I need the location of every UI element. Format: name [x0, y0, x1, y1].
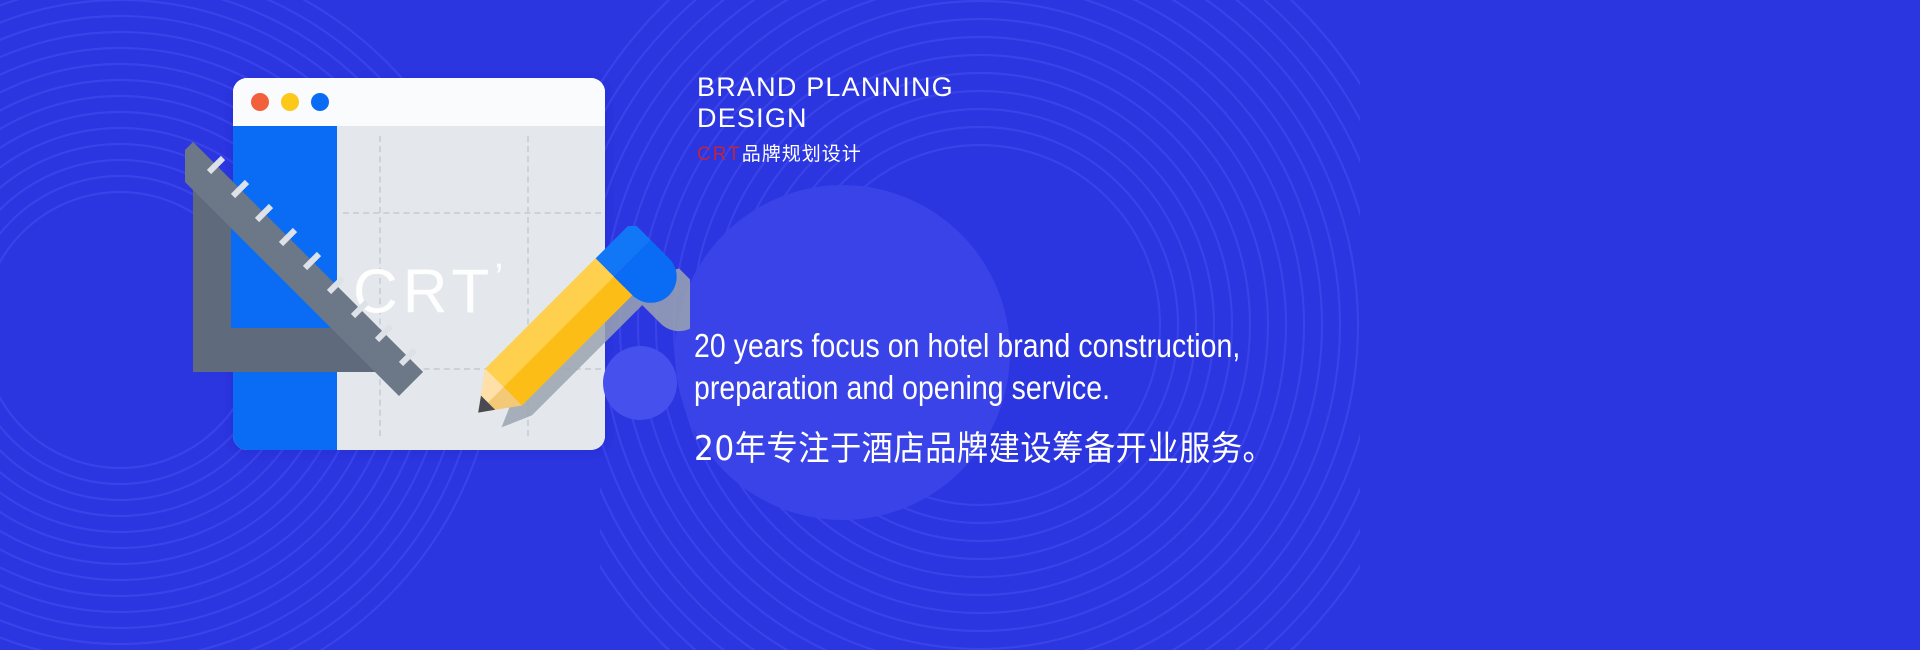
tagline-english-line-2: preparation and opening service.	[694, 367, 1451, 409]
pencil-icon	[470, 226, 690, 491]
tagline-block: 20 years focus on hotel brand constructi…	[694, 325, 1574, 472]
maximize-dot-icon[interactable]	[311, 93, 329, 111]
subheadline-brand: CRT	[697, 144, 742, 165]
headline-line-1: BRAND PLANNING	[697, 72, 1397, 103]
headline-line-2: DESIGN	[697, 103, 1397, 134]
close-dot-icon[interactable]	[251, 93, 269, 111]
tagline-chinese: 20年专注于酒店品牌建设筹备开业服务。	[694, 427, 1504, 471]
subheadline: CRT品牌规划设计	[697, 144, 1397, 167]
hero-banner: CRT’	[0, 0, 1920, 650]
headline-block: BRAND PLANNING DESIGN CRT品牌规划设计	[697, 72, 1397, 166]
illustration-group: CRT’	[185, 78, 685, 468]
window-title-bar	[233, 78, 605, 126]
minimize-dot-icon[interactable]	[281, 93, 299, 111]
subheadline-text: 品牌规划设计	[742, 144, 862, 165]
tagline-english-line-1: 20 years focus on hotel brand constructi…	[694, 325, 1451, 367]
set-square-ruler-icon	[185, 134, 445, 419]
